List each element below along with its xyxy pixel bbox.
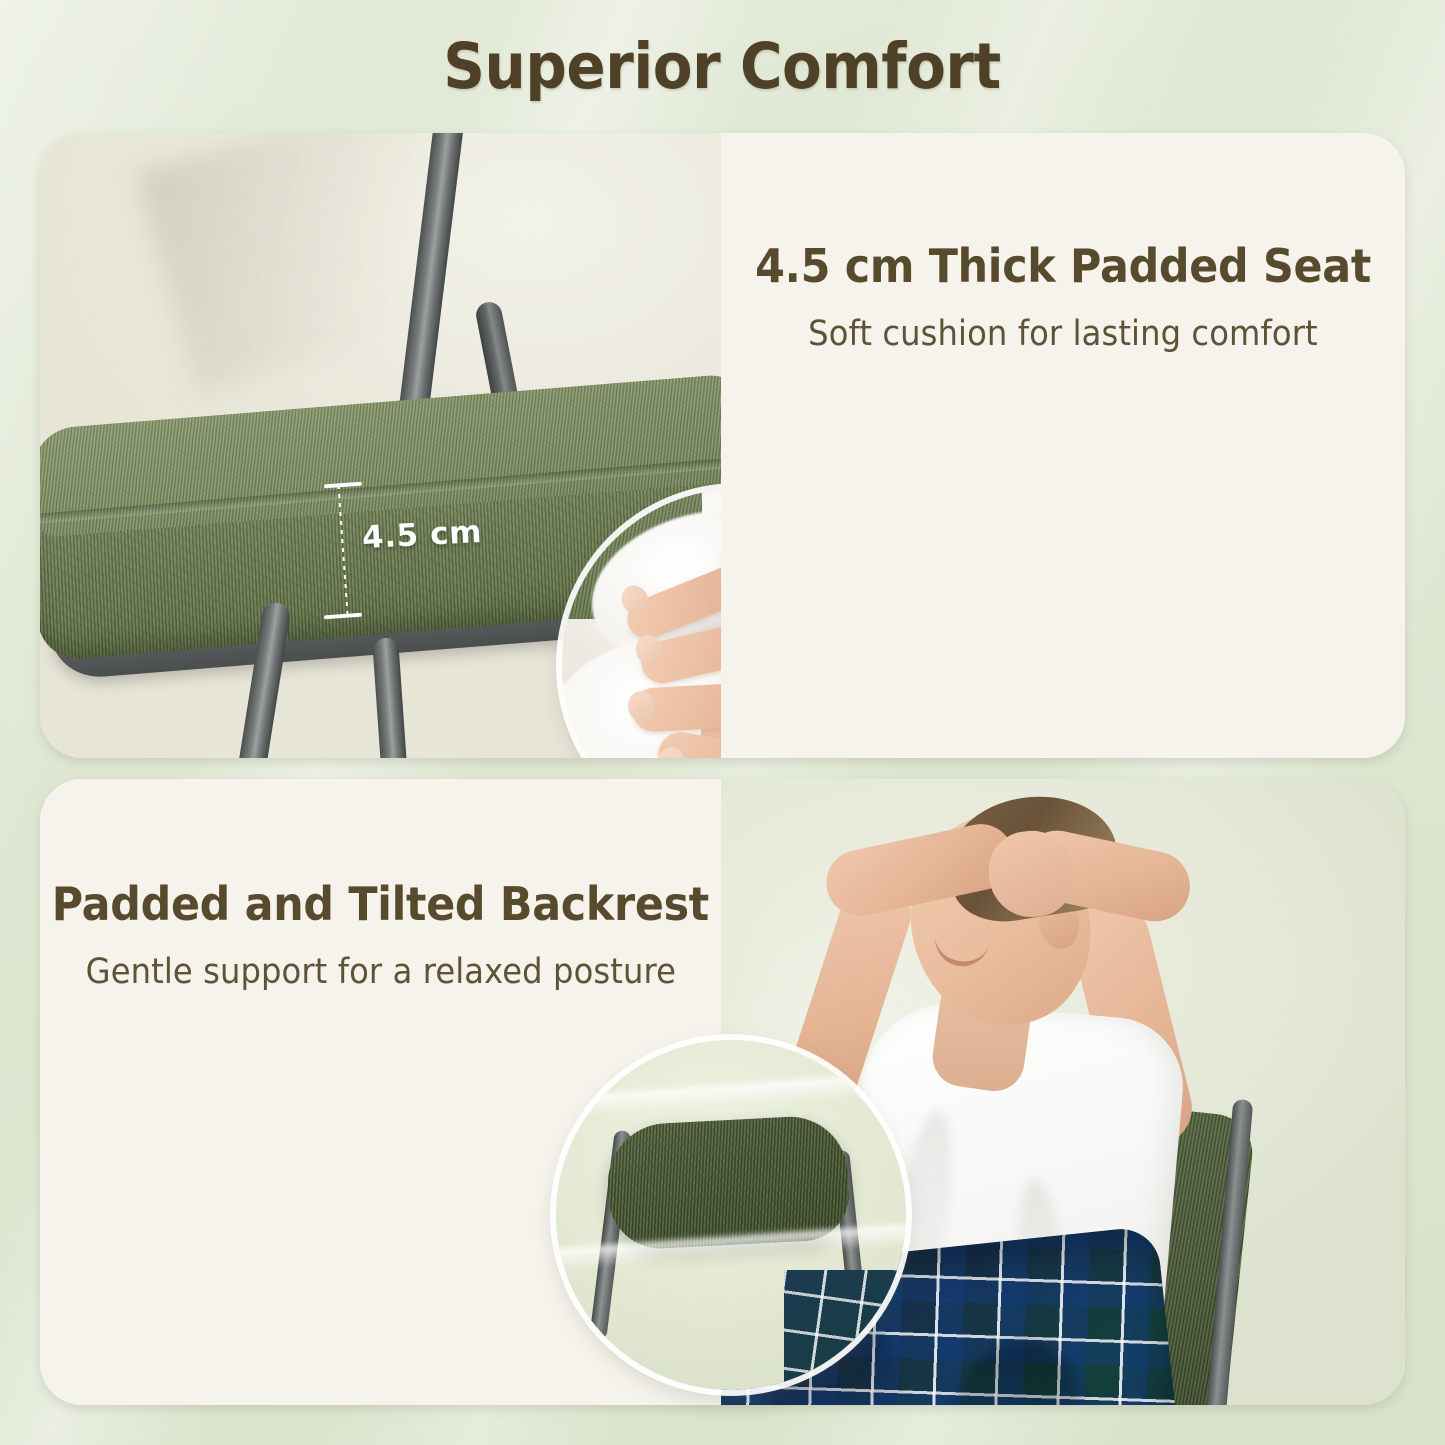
backrest-inset-backdrop — [556, 1040, 906, 1390]
pants-corner-in-inset — [784, 1270, 906, 1390]
backrest-sheen — [556, 1071, 906, 1119]
thickness-callout-label: 4.5 cm — [361, 514, 483, 556]
backrest-closeup-inset — [556, 1040, 906, 1390]
padded-seat-subline: Soft cushion for lasting comfort — [808, 314, 1318, 354]
padded-seat-headline: 4.5 cm Thick Padded Seat — [755, 241, 1371, 292]
seat-photo: 4.5 cm — [40, 133, 721, 758]
page-title: Superior Comfort — [444, 30, 1002, 103]
page-header: Superior Comfort — [0, 0, 1445, 133]
wall-shadow — [135, 133, 516, 394]
feature-card-padded-seat: 4.5 cm — [40, 133, 1405, 758]
backrest-headline: Padded and Tilted Backrest — [52, 879, 709, 930]
padded-seat-text-panel: 4.5 cm Thick Padded Seat Soft cushion fo… — [721, 133, 1405, 758]
foam-press-inset — [562, 489, 721, 758]
backrest-subline: Gentle support for a relaxed posture — [85, 952, 675, 992]
chair-frame-front-right-leg — [372, 637, 417, 758]
foam-surface — [562, 489, 721, 758]
seat-photo-backdrop: 4.5 cm — [40, 133, 721, 758]
infographic-page: Superior Comfort — [0, 0, 1445, 1445]
